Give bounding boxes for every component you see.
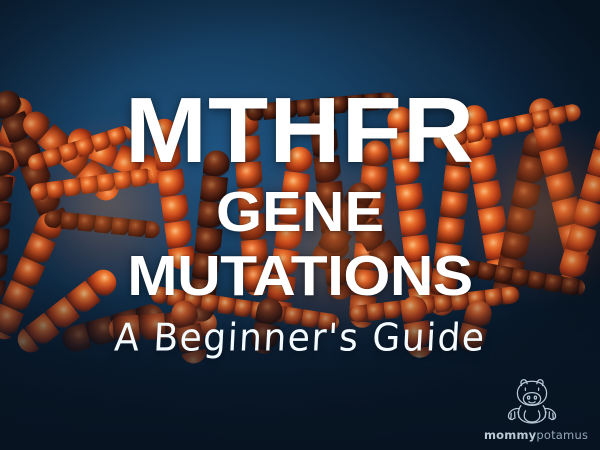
brand-wordmark-light: potamus: [536, 428, 588, 442]
graphic-canvas: MTHFR GENE MUTATIONS A Beginner's Guide: [0, 0, 600, 450]
hippo-icon: [484, 375, 580, 427]
title-line-mthfr: MTHFR: [0, 84, 600, 177]
brand-wordmark: mommypotamus: [484, 428, 580, 442]
title-line-mutations: MUTATIONS: [0, 248, 600, 305]
subtitle: A Beginner's Guide: [0, 317, 600, 360]
title-line-gene: GENE: [0, 184, 600, 241]
brand-wordmark-bold: mommy: [484, 428, 536, 442]
brand-logo: mommypotamus: [484, 375, 580, 442]
